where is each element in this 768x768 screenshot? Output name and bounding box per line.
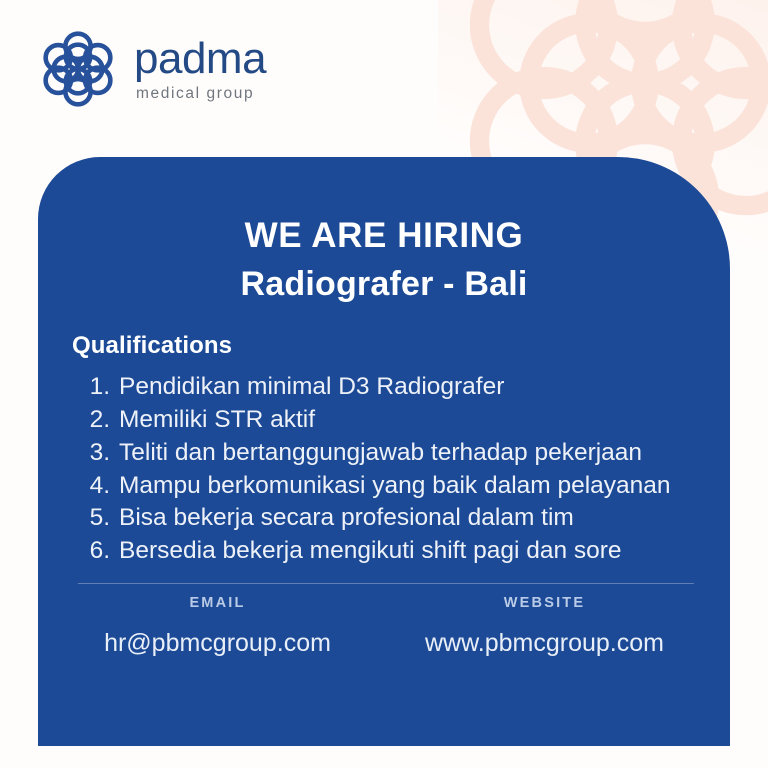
qualification-item: 6.Bersedia bekerja mengikuti shift pagi … xyxy=(38,535,730,567)
brand-wordmark: padma medical group xyxy=(134,36,266,103)
qualification-text: Bisa bekerja secara profesional dalam ti… xyxy=(119,502,730,534)
website-label: WEBSITE xyxy=(381,595,708,611)
qualification-number: 5. xyxy=(80,502,110,534)
footer-divider xyxy=(78,583,694,584)
qualification-text: Teliti dan bertanggungjawab terhadap pek… xyxy=(119,437,730,469)
contact-website: WEBSITE www.pbmcgroup.com xyxy=(381,595,708,658)
qualification-number: 1. xyxy=(80,371,110,403)
qualification-item: 5.Bisa bekerja secara profesional dalam … xyxy=(38,502,730,534)
contact-row: EMAIL hr@pbmcgroup.com WEBSITE www.pbmcg… xyxy=(38,595,730,658)
qualification-text: Bersedia bekerja mengikuti shift pagi da… xyxy=(119,535,730,567)
headline: WE ARE HIRING xyxy=(38,216,730,256)
contact-email: EMAIL hr@pbmcgroup.com xyxy=(54,595,381,658)
brand-tagline: medical group xyxy=(136,85,266,102)
website-value[interactable]: www.pbmcgroup.com xyxy=(381,629,708,658)
job-posting-poster: padma medical group WE ARE HIRING Radiog… xyxy=(0,0,768,768)
brand-logo: padma medical group xyxy=(36,27,266,111)
qualification-number: 3. xyxy=(80,437,110,469)
qualification-number: 2. xyxy=(80,404,110,436)
hiring-card: WE ARE HIRING Radiografer - Bali Qualifi… xyxy=(38,157,730,746)
qualification-number: 6. xyxy=(80,535,110,567)
brand-name: padma xyxy=(134,38,266,80)
qualification-text: Pendidikan minimal D3 Radiografer xyxy=(119,371,730,403)
qualification-text: Mampu berkomunikasi yang baik dalam pela… xyxy=(119,470,730,502)
qualification-number: 4. xyxy=(80,470,110,502)
qualification-item: 4.Mampu berkomunikasi yang baik dalam pe… xyxy=(38,470,730,502)
qualifications-list: 1.Pendidikan minimal D3 Radiografer2.Mem… xyxy=(38,371,730,567)
email-label: EMAIL xyxy=(54,595,381,611)
job-title: Radiografer - Bali xyxy=(38,265,730,304)
padma-lotus-logo-icon xyxy=(36,27,120,111)
qualification-item: 2.Memiliki STR aktif xyxy=(38,404,730,436)
qualification-text: Memiliki STR aktif xyxy=(119,404,730,436)
qualification-item: 1.Pendidikan minimal D3 Radiografer xyxy=(38,371,730,403)
email-value[interactable]: hr@pbmcgroup.com xyxy=(54,629,381,658)
qualification-item: 3.Teliti dan bertanggungjawab terhadap p… xyxy=(38,437,730,469)
qualifications-heading: Qualifications xyxy=(72,332,730,360)
